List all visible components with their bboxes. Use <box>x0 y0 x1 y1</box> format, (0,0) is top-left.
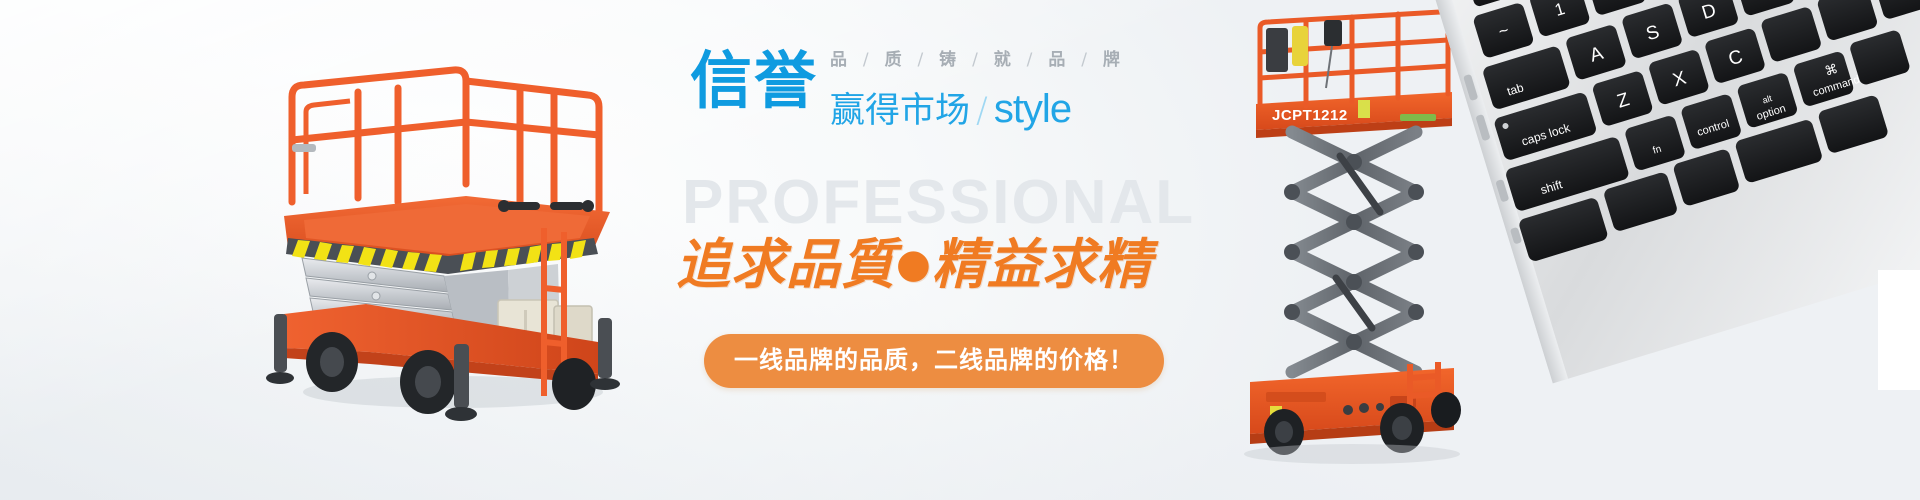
keyword-sep-3: / <box>968 50 985 70</box>
keyword-sep-1: / <box>859 50 876 70</box>
base-chassis <box>1250 362 1461 455</box>
control-console-panel <box>1292 26 1308 66</box>
sub-tagline: 赢得市场/style <box>830 90 1071 130</box>
headline-bullet: ● <box>896 241 932 287</box>
model-label: JCPT1212 <box>1272 107 1348 124</box>
control-box <box>1324 20 1342 46</box>
sub-tagline-slash: / <box>970 91 994 131</box>
rail-latch <box>292 144 316 152</box>
left-scissor-lift-image <box>258 52 638 422</box>
guardrail <box>292 70 599 212</box>
sub-tagline-en: style <box>994 87 1071 131</box>
keyword-sep-4: / <box>1023 50 1040 70</box>
keyword-2: 质 <box>885 50 905 70</box>
keyword-3: 铸 <box>939 50 959 70</box>
keyword-1: 品 <box>830 50 850 70</box>
right-scissor-lift-image: JCPT1212 <box>1240 0 1490 466</box>
ground-shadow-right <box>1244 444 1460 464</box>
promo-pill-button[interactable]: 一线品牌的品质，二线品牌的价格！ <box>704 334 1164 388</box>
main-headline-right: 精益求精 <box>932 233 1152 296</box>
headline-top-row: 信誉 品 / 质 / 铸 / 就 / 品 / 牌 赢得市场/style <box>690 44 1250 152</box>
main-headline-left: 追求品質 <box>676 233 896 296</box>
watermark-text: PROFESSIONAL <box>682 172 1195 234</box>
hydraulic-cylinders <box>1336 156 1380 328</box>
keyword-sep-5: / <box>1077 50 1094 70</box>
sub-tagline-cn: 赢得市场 <box>830 91 970 131</box>
elevated-platform: JCPT1212 <box>1256 12 1452 138</box>
brand-word: 信誉 <box>690 50 818 112</box>
keyword-4: 就 <box>994 50 1014 70</box>
keyword-strip: 品 / 质 / 铸 / 就 / 品 / 牌 <box>830 52 1123 69</box>
main-headline: 追求品質●精益求精 <box>676 234 1152 295</box>
keyword-6: 牌 <box>1103 50 1123 70</box>
laptop-keyboard-image: esc ☀ 3 4 ~ 1 2 Q W E R tab A S D F caps <box>1470 0 1920 390</box>
laptop-white-highlight <box>1878 270 1920 390</box>
keyword-5: 品 <box>1048 50 1068 70</box>
marketing-copy: 信誉 品 / 质 / 铸 / 就 / 品 / 牌 赢得市场/style PROF… <box>690 44 1250 424</box>
wheel-far <box>1431 392 1461 428</box>
keyword-sep-2: / <box>914 50 931 70</box>
control-console <box>1266 28 1288 72</box>
promo-banner: JCPT1212 <box>0 0 1920 500</box>
